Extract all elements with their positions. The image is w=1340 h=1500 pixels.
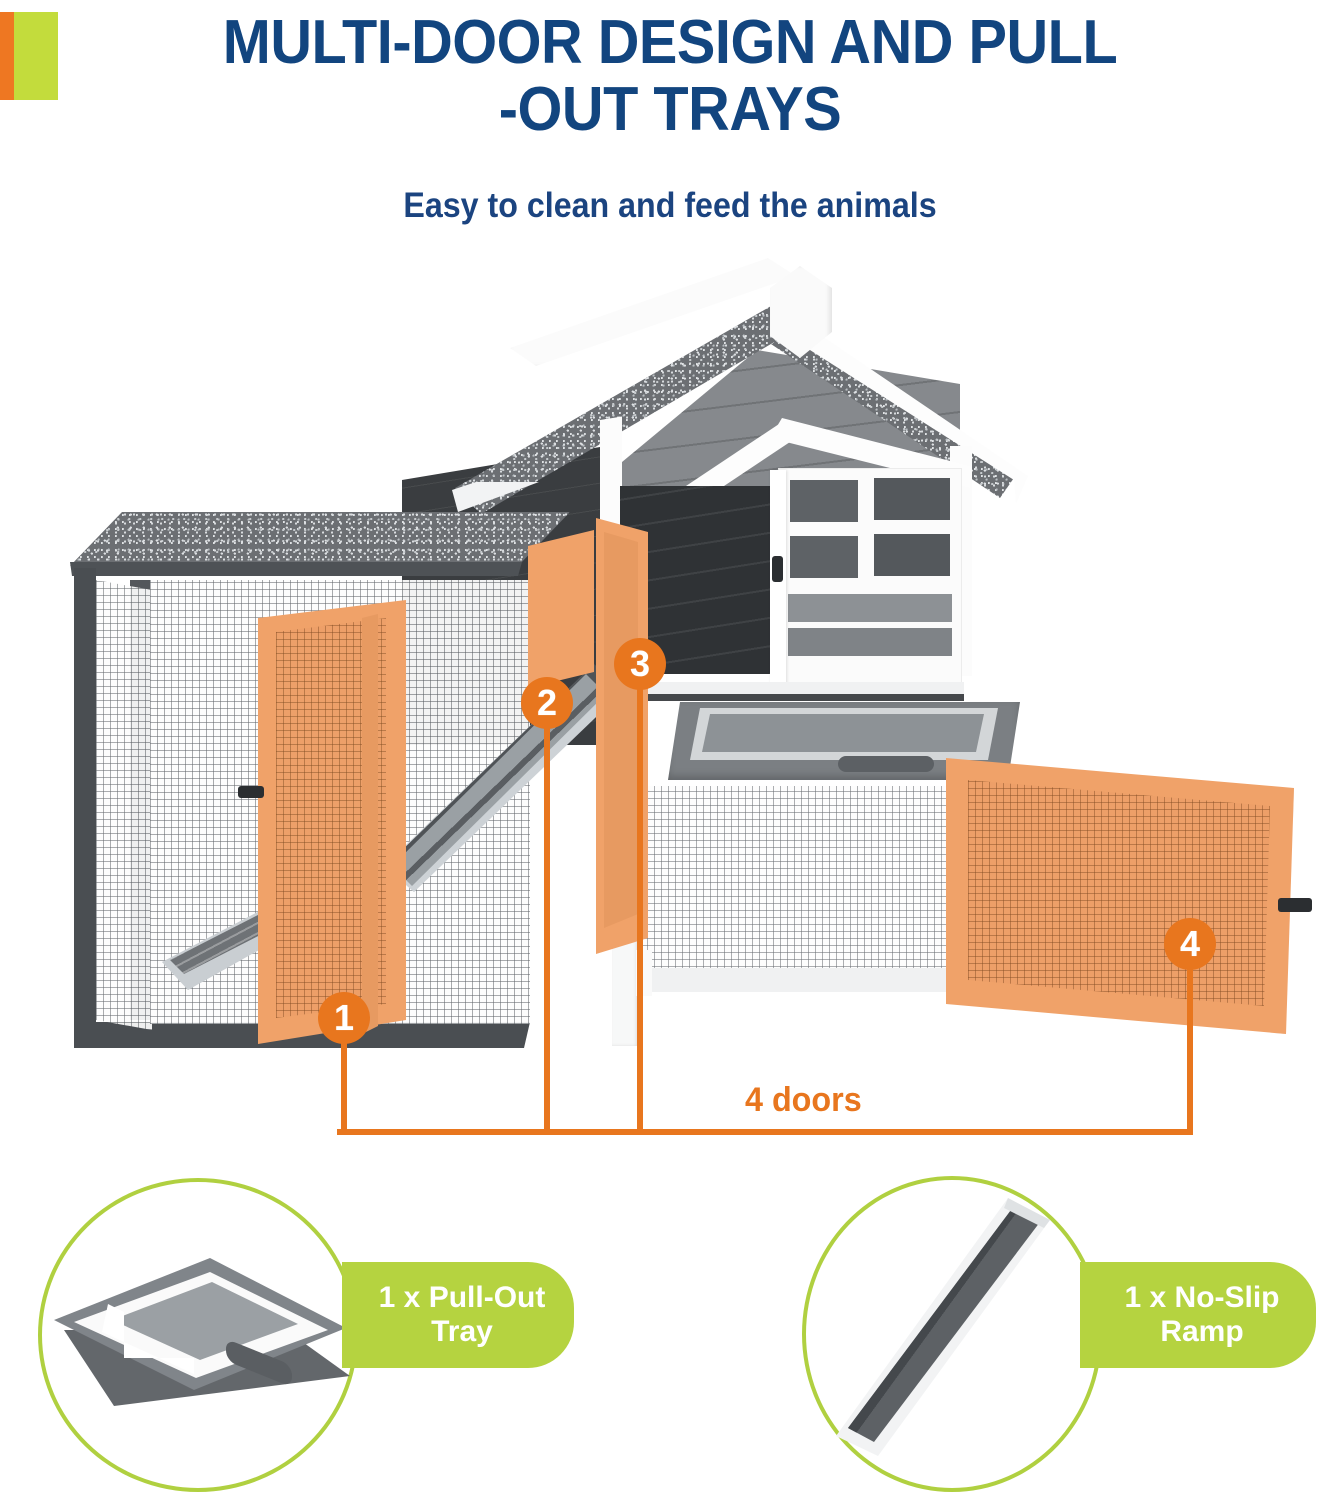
door-1-stile bbox=[362, 610, 378, 1034]
hutch-front-ledge bbox=[612, 682, 964, 694]
infographic-page: MULTI-DOOR DESIGN AND PULL -OUT TRAYS Ea… bbox=[0, 0, 1340, 1500]
window-pane-top-left bbox=[790, 480, 858, 522]
window-pane-top-right bbox=[874, 478, 950, 520]
run-roof-edge bbox=[70, 562, 522, 576]
door-4-latch-icon[interactable] bbox=[1278, 898, 1312, 912]
doors-count-label: 4 doors bbox=[745, 1081, 862, 1120]
accessory-pull-out-tray: 1 x Pull-Out Tray bbox=[0, 1170, 620, 1500]
marker-4-stem bbox=[1187, 966, 1193, 1134]
window-pane-bottom-left bbox=[790, 536, 858, 578]
no-slip-ramp-badge: 1 x No-Slip Ramp bbox=[1080, 1262, 1316, 1368]
door-3-mesh bbox=[604, 532, 638, 928]
marker-1[interactable]: 1 bbox=[318, 992, 370, 1044]
door-1-latch-icon[interactable] bbox=[238, 786, 264, 798]
marker-4[interactable]: 4 bbox=[1164, 918, 1216, 970]
pull-out-tray-inner-dark bbox=[702, 714, 984, 752]
marker-2-stem bbox=[544, 725, 550, 1134]
door-4-mesh bbox=[968, 780, 1270, 1006]
door-2-panel[interactable] bbox=[528, 530, 594, 688]
pull-out-tray-handle-icon[interactable] bbox=[838, 756, 934, 772]
pull-out-tray-badge: 1 x Pull-Out Tray bbox=[342, 1262, 574, 1368]
hutch-front-board-2 bbox=[788, 628, 952, 656]
ramp-illustration bbox=[818, 1198, 1088, 1468]
marker-1-stem bbox=[341, 1040, 347, 1134]
accessory-no-slip-ramp: 1 x No-Slip Ramp bbox=[760, 1170, 1340, 1500]
callout-connector-line bbox=[337, 1129, 1193, 1135]
tray-illustration bbox=[50, 1246, 350, 1451]
page-subtitle: Easy to clean and feed the animals bbox=[54, 186, 1287, 226]
right-run-floor bbox=[636, 968, 978, 992]
hutch-front-board-1 bbox=[788, 594, 952, 622]
marker-3[interactable]: 3 bbox=[614, 638, 666, 690]
page-title: MULTI-DOOR DESIGN AND PULL -OUT TRAYS bbox=[47, 10, 1293, 144]
product-illustration bbox=[0, 250, 1340, 1130]
run-mesh-left-side bbox=[96, 580, 152, 1030]
window-pane-bottom-right bbox=[874, 534, 950, 576]
run-frame-left-post bbox=[74, 568, 96, 1048]
marker-2[interactable]: 2 bbox=[521, 677, 573, 729]
sliding-door-latch-icon[interactable] bbox=[772, 556, 783, 582]
marker-3-stem bbox=[637, 686, 643, 1134]
hutch-front-ledge-shadow bbox=[612, 694, 964, 701]
accent-bar-orange bbox=[0, 12, 14, 100]
right-run-mesh bbox=[640, 786, 972, 974]
